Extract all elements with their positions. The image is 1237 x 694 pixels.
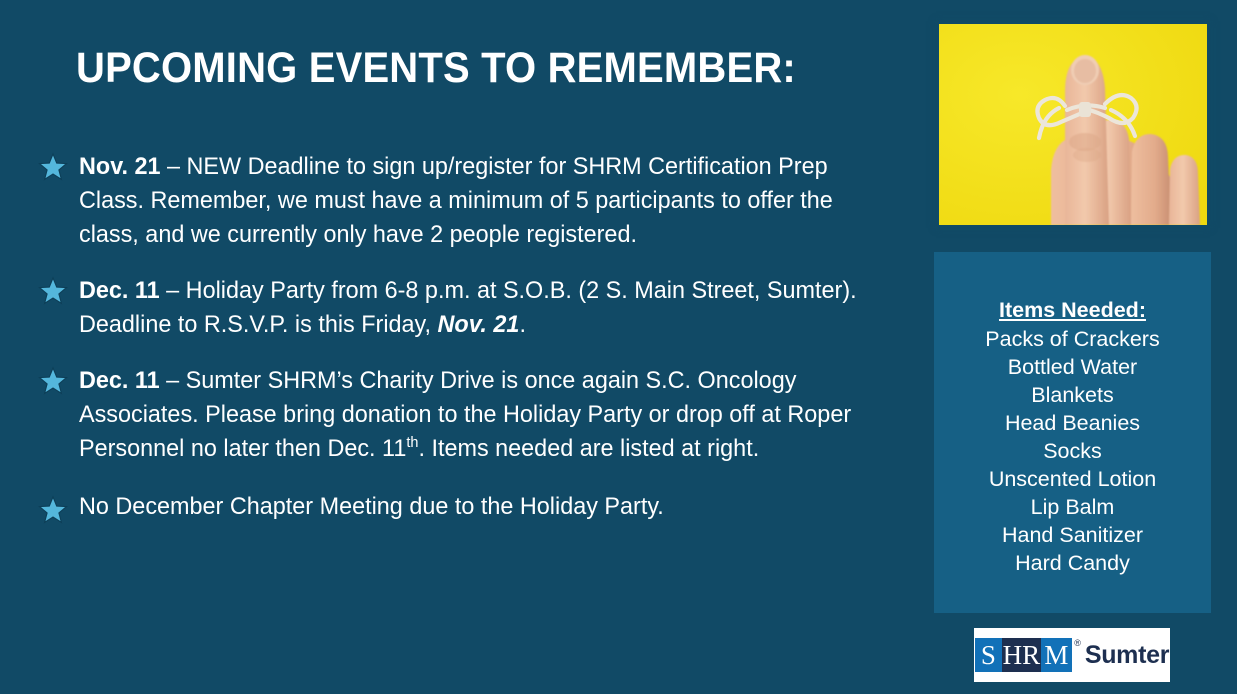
list-item-date: Nov. 21: [79, 153, 161, 180]
list-item: Lip Balm: [934, 493, 1211, 521]
list-item-text: No December Chapter Meeting due to the H…: [79, 490, 880, 524]
logo-chapter-name: Sumter: [1085, 643, 1169, 668]
list-item-text: Dec. 11 – Sumter SHRM’s Charity Drive is…: [79, 364, 880, 466]
logo-content: S HR M ® Sumter: [975, 638, 1169, 672]
items-needed-content: Items Needed: Packs of Crackers Bottled …: [934, 296, 1211, 577]
list-item-date: Dec. 11: [79, 277, 160, 304]
finger-with-string-reminder-photo: [939, 24, 1207, 225]
list-item: Blankets: [934, 381, 1211, 409]
list-item-date: Dec. 11: [79, 367, 160, 394]
list-item-text: Nov. 21 – NEW Deadline to sign up/regist…: [79, 150, 880, 252]
shrm-letters-hr: HR: [1002, 638, 1041, 672]
shrm-sumter-logo: S HR M ® Sumter: [974, 628, 1170, 682]
list-item-body: – NEW Deadline to sign up/register for S…: [79, 153, 833, 248]
list-item: Nov. 21 – NEW Deadline to sign up/regist…: [38, 150, 918, 252]
list-item: Hand Sanitizer: [934, 521, 1211, 549]
photo-image: [939, 24, 1207, 225]
star-bullet-icon: [38, 276, 68, 306]
items-needed-heading: Items Needed:: [934, 296, 1211, 324]
registered-trademark-icon: ®: [1074, 639, 1081, 648]
items-needed-panel: Items Needed: Packs of Crackers Bottled …: [934, 252, 1211, 613]
list-item-body-tail: . Items needed are listed at right.: [418, 435, 759, 462]
shrm-letter-m: M: [1041, 638, 1072, 672]
list-item-text: Dec. 11 – Holiday Party from 6-8 p.m. at…: [79, 274, 880, 342]
list-item: Dec. 11 – Holiday Party from 6-8 p.m. at…: [38, 274, 918, 342]
list-item: Packs of Crackers: [934, 325, 1211, 353]
list-item: Bottled Water: [934, 353, 1211, 381]
star-bullet-icon: [38, 366, 68, 396]
star-bullet-icon: [38, 495, 68, 525]
list-item-emphasis: Nov. 21: [438, 311, 520, 338]
star-bullet-icon: [38, 152, 68, 182]
list-item: Dec. 11 – Sumter SHRM’s Charity Drive is…: [38, 364, 918, 466]
page-title: UPCOMING EVENTS TO REMEMBER:: [76, 42, 857, 94]
list-item-body-tail: .: [519, 311, 526, 338]
list-item: Unscented Lotion: [934, 465, 1211, 493]
list-item: Hard Candy: [934, 549, 1211, 577]
shrm-letter-s: S: [975, 638, 1002, 672]
ordinal-suffix: th: [406, 434, 418, 451]
list-item: Head Beanies: [934, 409, 1211, 437]
slide-canvas: UPCOMING EVENTS TO REMEMBER: Nov. 21 – N…: [0, 0, 1237, 694]
list-item: Socks: [934, 437, 1211, 465]
events-bullet-list: Nov. 21 – NEW Deadline to sign up/regist…: [38, 150, 918, 547]
shrm-wordmark: S HR M ®: [975, 638, 1072, 672]
list-item: No December Chapter Meeting due to the H…: [38, 490, 918, 525]
